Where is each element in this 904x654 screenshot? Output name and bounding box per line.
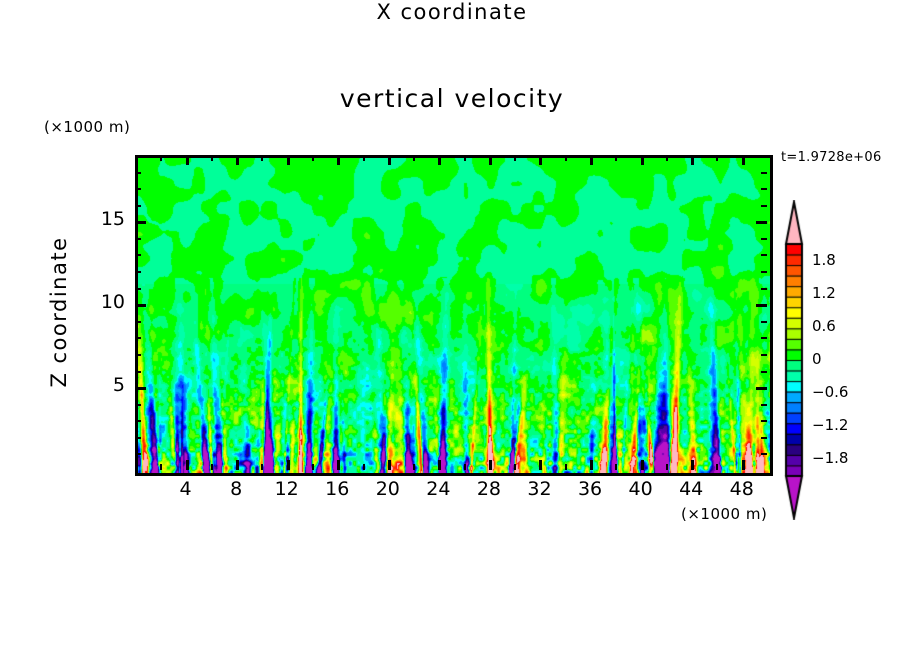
axis-tick <box>641 155 644 165</box>
axis-tick <box>135 304 146 307</box>
x-tick-label: 32 <box>516 478 562 500</box>
axis-tick <box>312 155 314 161</box>
x-tick-label: 20 <box>365 478 411 500</box>
y-tick-label: 5 <box>73 374 125 396</box>
axis-tick <box>236 155 239 165</box>
axis-tick <box>489 155 492 165</box>
axis-tick <box>565 155 567 161</box>
axis-tick <box>565 464 567 470</box>
axis-tick <box>514 155 516 161</box>
x-axis-unit-label: (×1000 m) <box>681 505 767 523</box>
colorbar-tick-label: −1.2 <box>812 416 848 434</box>
axis-tick <box>312 464 314 470</box>
axis-tick <box>590 460 593 470</box>
axis-tick <box>135 172 141 174</box>
axis-tick <box>337 460 340 470</box>
x-tick-label: 36 <box>567 478 613 500</box>
axis-tick <box>211 464 213 470</box>
axis-tick <box>287 155 290 165</box>
x-tick-label: 16 <box>314 478 360 500</box>
axis-tick <box>756 304 767 307</box>
axis-tick <box>135 371 141 373</box>
axis-tick <box>337 155 340 165</box>
axis-tick <box>160 464 162 470</box>
axis-tick <box>236 460 239 470</box>
axis-tick <box>761 254 767 256</box>
x-tick-label: 40 <box>618 478 664 500</box>
axis-tick <box>761 238 767 240</box>
timestamp-label: t=1.9728e+06 <box>781 150 882 165</box>
axis-tick <box>539 155 542 165</box>
axis-tick <box>691 460 694 470</box>
axis-tick <box>363 155 365 161</box>
y-axis-unit-label: (×1000 m) <box>44 118 130 136</box>
axis-tick <box>413 155 415 161</box>
x-tick-label: 48 <box>719 478 765 500</box>
axis-tick <box>716 155 718 161</box>
axis-tick <box>135 288 141 290</box>
axis-tick <box>761 420 767 422</box>
axis-tick <box>756 387 767 390</box>
axis-tick <box>135 337 141 339</box>
axis-tick <box>761 172 767 174</box>
axis-tick <box>761 354 767 356</box>
axis-tick <box>135 404 141 406</box>
axis-tick <box>666 464 668 470</box>
y-tick-label: 10 <box>73 291 125 313</box>
axis-tick <box>388 460 391 470</box>
colorbar-tick-label: −0.6 <box>812 383 848 401</box>
colorbar-tick-label: 1.2 <box>812 284 836 302</box>
chart-title: vertical velocity <box>0 84 904 113</box>
axis-tick <box>388 155 391 165</box>
axis-tick <box>135 321 141 323</box>
velocity-field-canvas <box>138 158 770 473</box>
axis-tick <box>438 155 441 165</box>
axis-tick <box>615 464 617 470</box>
axis-tick <box>761 271 767 273</box>
axis-tick <box>539 460 542 470</box>
axis-tick <box>438 460 441 470</box>
axis-tick <box>761 188 767 190</box>
axis-tick <box>135 205 141 207</box>
y-tick-label: 15 <box>73 208 125 230</box>
axis-tick <box>761 371 767 373</box>
x-tick-label: 44 <box>668 478 714 500</box>
axis-tick <box>287 460 290 470</box>
axis-tick <box>761 453 767 455</box>
axis-tick <box>742 460 745 470</box>
axis-tick <box>489 460 492 470</box>
axis-tick <box>135 387 146 390</box>
axis-tick <box>261 155 263 161</box>
axis-tick <box>135 271 141 273</box>
axis-tick <box>761 205 767 207</box>
axis-tick <box>135 221 146 224</box>
axis-tick <box>761 437 767 439</box>
x-tick-label: 4 <box>163 478 209 500</box>
x-tick-label: 8 <box>213 478 259 500</box>
axis-tick <box>186 155 189 165</box>
axis-tick <box>186 460 189 470</box>
axis-tick <box>135 437 141 439</box>
axis-tick <box>761 321 767 323</box>
axis-tick <box>742 155 745 165</box>
axis-tick <box>211 155 213 161</box>
colorbar-tick-label: 0 <box>812 350 822 368</box>
axis-tick <box>716 464 718 470</box>
colorbar-tick-label: 0.6 <box>812 317 836 335</box>
colorbar-tick-label: 1.8 <box>812 251 836 269</box>
x-tick-label: 28 <box>466 478 512 500</box>
axis-tick <box>135 188 141 190</box>
colorbar <box>780 200 808 520</box>
axis-tick <box>464 464 466 470</box>
axis-tick <box>761 404 767 406</box>
axis-tick <box>135 420 141 422</box>
axis-tick <box>413 464 415 470</box>
colorbar-tick-label: −1.8 <box>812 449 848 467</box>
axis-tick <box>135 453 141 455</box>
axis-tick <box>761 288 767 290</box>
axis-tick <box>135 238 141 240</box>
plot-area <box>135 155 773 476</box>
axis-tick <box>514 464 516 470</box>
y-axis-title: Z coordinate <box>47 217 71 407</box>
axis-tick <box>761 337 767 339</box>
x-tick-label: 12 <box>264 478 310 500</box>
axis-tick <box>464 155 466 161</box>
x-tick-label: 24 <box>415 478 461 500</box>
axis-tick <box>666 155 668 161</box>
axis-tick <box>135 254 141 256</box>
x-axis-title: X coordinate <box>0 0 904 24</box>
axis-tick <box>160 155 162 161</box>
axis-tick <box>691 155 694 165</box>
axis-tick <box>641 460 644 470</box>
axis-tick <box>615 155 617 161</box>
axis-tick <box>261 464 263 470</box>
axis-tick <box>590 155 593 165</box>
axis-tick <box>756 221 767 224</box>
axis-tick <box>363 464 365 470</box>
axis-tick <box>135 354 141 356</box>
